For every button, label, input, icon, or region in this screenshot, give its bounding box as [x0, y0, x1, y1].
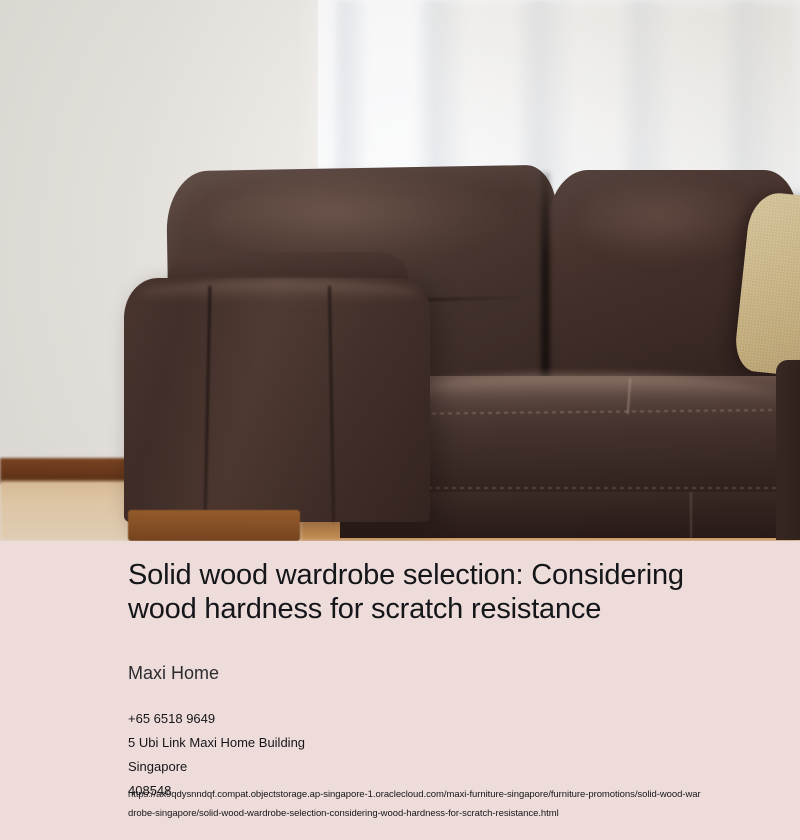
- page-title: Solid wood wardrobe selection: Consideri…: [128, 558, 728, 626]
- base-rail-seam: [690, 492, 692, 538]
- source-url[interactable]: https://ax9qdysnndqf.compat.objectstorag…: [128, 785, 788, 823]
- contact-country: Singapore: [128, 755, 728, 779]
- brand-name: Maxi Home: [128, 663, 219, 684]
- contact-phone: +65 6518 9649: [128, 707, 728, 731]
- source-url-line-2: drobe-singapore/solid-wood-wardrobe-sele…: [128, 804, 788, 823]
- promo-card: Solid wood wardrobe selection: Consideri…: [0, 0, 800, 840]
- sofa-wooden-plinth: [128, 510, 300, 541]
- seat-stitch-lower: [372, 487, 792, 489]
- source-url-line-1: https://ax9qdysnndqf.compat.objectstorag…: [128, 785, 788, 804]
- sofa-left-arm: [124, 278, 430, 522]
- sofa-back-right-highlight: [580, 182, 760, 262]
- hero-photo: [0, 0, 800, 541]
- leather-sofa: [0, 0, 800, 541]
- sofa-right-arm: [776, 360, 800, 540]
- info-panel: Solid wood wardrobe selection: Consideri…: [0, 541, 800, 840]
- contact-address: 5 Ubi Link Maxi Home Building: [128, 731, 728, 755]
- sofa-arm-highlight: [140, 280, 420, 306]
